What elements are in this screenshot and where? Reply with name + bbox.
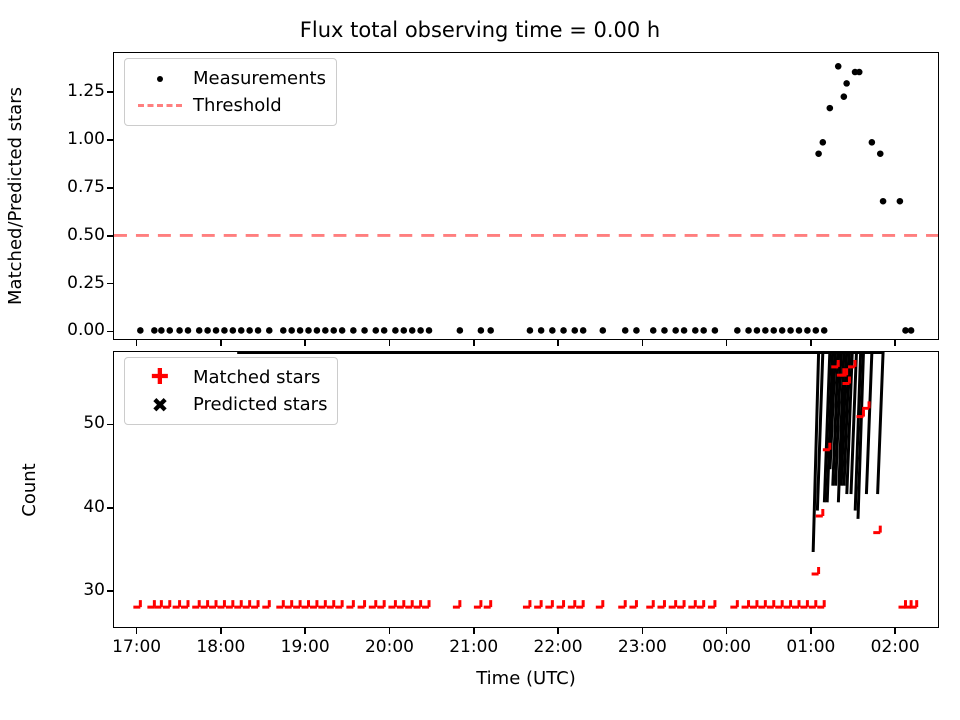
bottom-panel-ytick: 40	[30, 497, 105, 517]
measurement-point	[339, 327, 346, 334]
x-tick-mark-top-panel	[136, 340, 138, 346]
measurement-point	[745, 327, 752, 334]
measurement-point	[820, 139, 827, 146]
measurement-point	[804, 327, 811, 334]
x-tick-label: 17:00	[92, 637, 182, 657]
measurement-point	[908, 327, 915, 334]
measurement-point	[843, 80, 850, 87]
x-tick-mark-top-panel	[642, 340, 644, 346]
x-tick-mark	[389, 628, 391, 634]
figure-title: Flux total observing time = 0.00 h	[0, 18, 960, 42]
plus-marker-icon: ✚	[133, 367, 187, 389]
x-tick-mark	[810, 628, 812, 634]
top-panel-ytick-mark	[107, 235, 113, 237]
x-axis-label: Time (UTC)	[113, 668, 939, 689]
measurement-point	[196, 327, 203, 334]
x-tick-mark-top-panel	[894, 340, 896, 346]
x-tick-label: 01:00	[766, 637, 856, 657]
measurement-point	[796, 327, 803, 334]
x-tick-mark-top-panel	[389, 340, 391, 346]
measurement-point	[700, 327, 707, 334]
bottom-panel-legend: ✚ Matched stars ✖ Predicted stars	[124, 357, 338, 425]
measurement-point	[213, 327, 220, 334]
measurement-point	[754, 327, 761, 334]
measurement-point	[314, 327, 321, 334]
x-tick-label: 21:00	[429, 637, 519, 657]
measurement-point	[392, 327, 399, 334]
measurement-point	[633, 327, 640, 334]
measurement-point	[417, 327, 424, 334]
measurement-point	[672, 327, 679, 334]
measurement-point	[902, 327, 909, 334]
measurement-point	[350, 327, 357, 334]
bottom-panel-ytick: 50	[30, 413, 105, 433]
measurement-point	[381, 327, 388, 334]
measurement-point	[230, 327, 237, 334]
measurement-point	[288, 327, 295, 334]
top-panel-ytick: 0.25	[30, 273, 105, 293]
measurement-point	[650, 327, 657, 334]
legend-entry-predicted: ✖ Predicted stars	[133, 391, 327, 418]
top-panel-legend: Measurements Threshold	[124, 58, 337, 126]
measurement-point	[661, 327, 668, 334]
legend-entry-matched: ✚ Matched stars	[133, 364, 327, 391]
measurement-point	[401, 327, 408, 334]
x-tick-mark	[557, 628, 559, 634]
measurement-point	[835, 63, 842, 70]
bottom-panel-ytick-mark	[107, 507, 113, 509]
legend-entry-threshold: Threshold	[133, 92, 326, 119]
top-panel-ytick: 1.25	[30, 81, 105, 101]
measurement-point	[372, 327, 379, 334]
x-tick-mark	[304, 628, 306, 634]
measurement-point	[527, 327, 534, 334]
x-tick-mark	[220, 628, 222, 634]
measurement-point	[762, 327, 769, 334]
measurement-point	[361, 327, 368, 334]
measurement-point	[322, 327, 329, 334]
bottom-panel-ytick-mark	[107, 590, 113, 592]
measurement-point	[571, 327, 578, 334]
measurement-point	[204, 327, 211, 334]
measurement-point	[426, 327, 433, 334]
measurement-point	[897, 198, 904, 205]
measurement-point	[821, 327, 828, 334]
x-tick-label: 22:00	[513, 637, 603, 657]
legend-label-measurements: Measurements	[187, 68, 326, 89]
x-tick-mark-top-panel	[557, 340, 559, 346]
matplotlib-figure: Flux total observing time = 0.00 h Match…	[0, 0, 960, 720]
x-tick-label: 20:00	[344, 637, 434, 657]
measurement-point	[734, 327, 741, 334]
measurement-point	[880, 198, 887, 205]
measurement-point	[692, 327, 699, 334]
measurement-point	[246, 327, 253, 334]
measurement-point	[681, 327, 688, 334]
top-panel-ytick: 1.00	[30, 129, 105, 149]
top-panel-ytick-mark	[107, 187, 113, 189]
legend-label-matched: Matched stars	[187, 367, 320, 388]
x-tick-mark	[136, 628, 138, 634]
top-panel-ylabel: Matched/Predicted stars	[5, 87, 26, 305]
measurement-point	[779, 327, 786, 334]
measurement-point	[813, 327, 820, 334]
bottom-panel-ytick-mark	[107, 424, 113, 426]
x-tick-label: 00:00	[682, 637, 772, 657]
legend-label-threshold: Threshold	[187, 95, 282, 116]
measurement-point	[221, 327, 228, 334]
measurement-point	[330, 327, 337, 334]
top-panel-ytick: 0.50	[30, 225, 105, 245]
top-panel-ytick: 0.75	[30, 177, 105, 197]
top-panel-ytick-mark	[107, 283, 113, 285]
measurement-point	[815, 150, 822, 157]
x-tick-mark	[473, 628, 475, 634]
x-tick-label: 02:00	[850, 637, 940, 657]
measurement-point	[137, 327, 144, 334]
measurement-point	[158, 327, 165, 334]
measurement-point	[280, 327, 287, 334]
top-panel-ytick-mark	[107, 139, 113, 141]
measurement-point	[869, 139, 876, 146]
measurement-point	[538, 327, 545, 334]
bottom-panel-ytick: 30	[30, 580, 105, 600]
measurement-point	[457, 327, 464, 334]
top-panel-ytick-mark	[107, 91, 113, 93]
x-tick-label: 19:00	[260, 637, 350, 657]
measurement-point	[877, 150, 884, 157]
measurement-point	[787, 327, 794, 334]
measurement-point	[600, 327, 607, 334]
x-tick-mark-top-panel	[473, 340, 475, 346]
x-tick-label: 23:00	[597, 637, 687, 657]
measurement-point	[560, 327, 567, 334]
measurement-point	[151, 327, 158, 334]
x-tick-label: 18:00	[176, 637, 266, 657]
measurement-point	[549, 327, 556, 334]
measurement-point	[856, 69, 863, 76]
measurement-point	[841, 93, 848, 100]
x-tick-mark-top-panel	[810, 340, 812, 346]
measurement-point	[266, 327, 273, 334]
measurement-point	[185, 327, 192, 334]
dashed-line-icon	[133, 104, 187, 107]
top-panel-ytick-mark	[107, 331, 113, 333]
x-tick-mark	[726, 628, 728, 634]
legend-label-predicted: Predicted stars	[187, 394, 327, 415]
measurement-point	[712, 327, 719, 334]
measurement-point	[305, 327, 312, 334]
measurement-point	[580, 327, 587, 334]
measurement-point	[478, 327, 485, 334]
measurement-point	[297, 327, 304, 334]
x-tick-mark	[642, 628, 644, 634]
dot-marker-icon	[133, 76, 187, 82]
measurement-point	[622, 327, 629, 334]
measurement-point	[238, 327, 245, 334]
measurement-point	[770, 327, 777, 334]
top-panel-ytick: 0.00	[30, 320, 105, 340]
measurement-point	[255, 327, 262, 334]
measurement-point	[166, 327, 173, 334]
measurement-point	[176, 327, 183, 334]
cross-marker-icon: ✖	[133, 395, 187, 415]
x-tick-mark-top-panel	[726, 340, 728, 346]
x-tick-mark-top-panel	[220, 340, 222, 346]
measurement-point	[827, 105, 834, 112]
measurement-point	[487, 327, 494, 334]
measurement-point	[409, 327, 416, 334]
x-tick-mark	[894, 628, 896, 634]
x-tick-mark-top-panel	[304, 340, 306, 346]
legend-entry-measurements: Measurements	[133, 65, 326, 92]
